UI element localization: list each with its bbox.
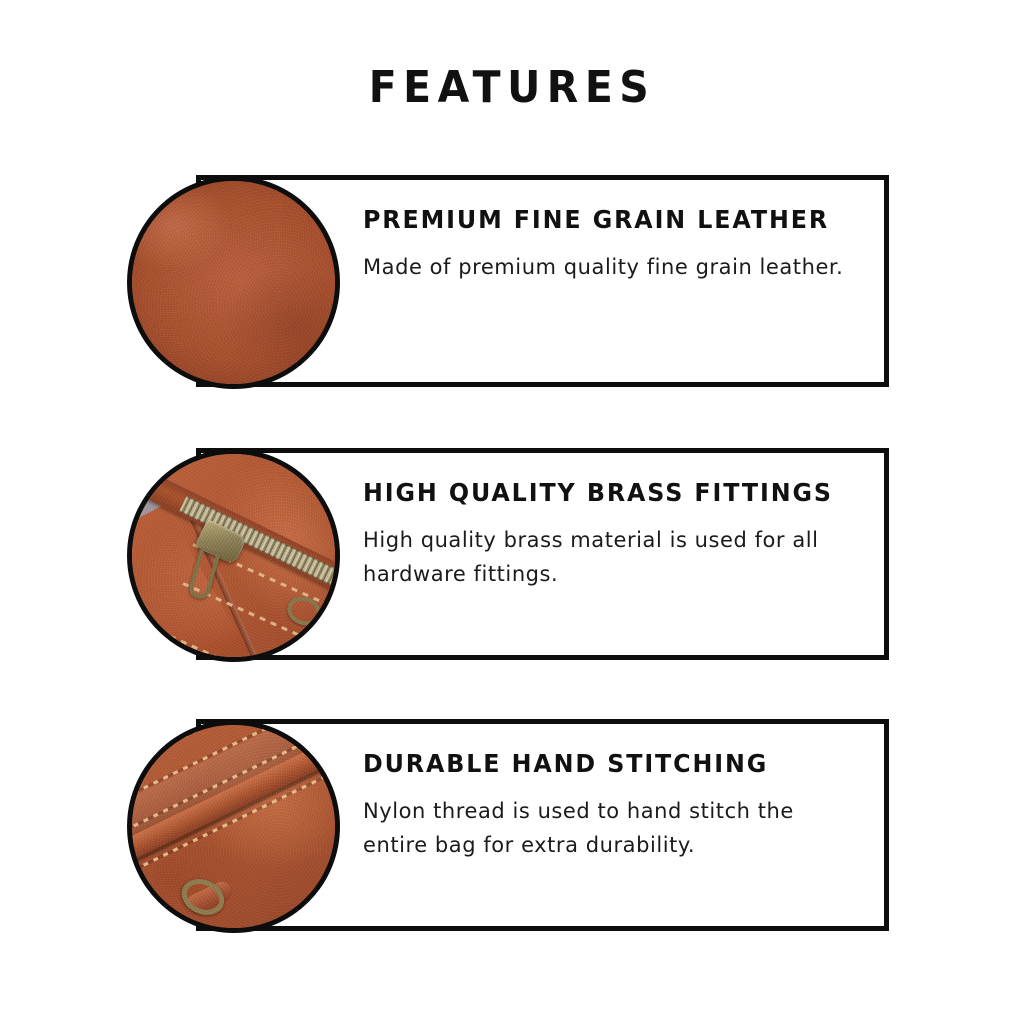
feature-image-2 [127, 449, 340, 662]
feature-description-2: High quality brass material is used for … [363, 523, 863, 591]
feature-text-3: DURABLE HAND STITCHING Nylon thread is u… [363, 750, 875, 862]
features-infographic: FEATURES PREMIUM FINE GRAIN LEATHER Made… [0, 0, 1024, 1024]
hand-stitching-icon [132, 725, 335, 928]
feature-text-2: HIGH QUALITY BRASS FITTINGS High quality… [363, 479, 875, 591]
feature-description-3: Nylon thread is used to hand stitch the … [363, 794, 863, 862]
feature-heading-2: HIGH QUALITY BRASS FITTINGS [363, 479, 849, 507]
page-title: FEATURES [36, 62, 988, 113]
feature-description-1: Made of premium quality fine grain leath… [363, 250, 863, 284]
feature-image-1 [127, 176, 340, 389]
feature-image-3 [127, 720, 340, 933]
feature-heading-3: DURABLE HAND STITCHING [363, 750, 849, 778]
fine-grain-leather-icon [132, 181, 335, 384]
feature-row-1: PREMIUM FINE GRAIN LEATHER Made of premi… [0, 160, 1024, 405]
feature-text-1: PREMIUM FINE GRAIN LEATHER Made of premi… [363, 206, 875, 284]
feature-row-2: HIGH QUALITY BRASS FITTINGS High quality… [0, 433, 1024, 678]
feature-row-3: DURABLE HAND STITCHING Nylon thread is u… [0, 704, 1024, 949]
brass-zipper-icon [132, 454, 335, 657]
feature-heading-1: PREMIUM FINE GRAIN LEATHER [363, 206, 849, 234]
